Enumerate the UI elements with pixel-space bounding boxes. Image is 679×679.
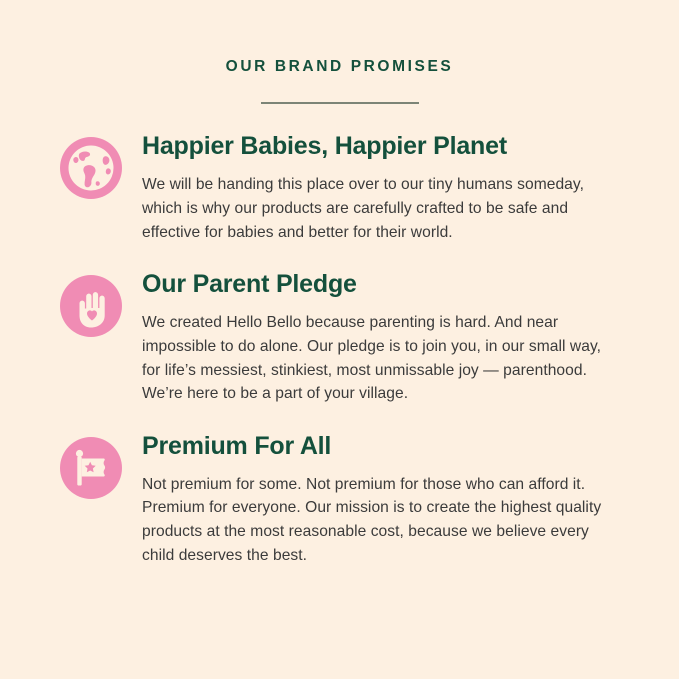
promise-text: We created Hello Bello because parenting… [142, 311, 617, 406]
brand-promises-page: OUR BRAND PROMISES [0, 0, 679, 679]
promise-body: Happier Babies, Happier Planet We will b… [122, 132, 633, 245]
promise-title: Our Parent Pledge [142, 270, 633, 299]
list-item: Premium For All Not premium for some. No… [60, 432, 633, 568]
list-item: Our Parent Pledge We created Hello Bello… [60, 270, 633, 406]
promise-text: Not premium for some. Not premium for th… [142, 473, 617, 568]
page-title: OUR BRAND PROMISES [0, 58, 679, 77]
promise-body: Premium For All Not premium for some. No… [122, 432, 633, 568]
list-item: Happier Babies, Happier Planet We will b… [60, 132, 633, 245]
page-header: OUR BRAND PROMISES [0, 0, 679, 104]
promise-body: Our Parent Pledge We created Hello Bello… [122, 270, 633, 406]
globe-icon [60, 137, 122, 199]
flag-star-icon [60, 437, 122, 499]
promise-title: Premium For All [142, 432, 633, 461]
promise-list: Happier Babies, Happier Planet We will b… [0, 132, 679, 568]
header-divider [261, 102, 419, 104]
hand-heart-icon [60, 275, 122, 337]
promise-title: Happier Babies, Happier Planet [142, 132, 633, 161]
promise-text: We will be handing this place over to ou… [142, 173, 617, 244]
